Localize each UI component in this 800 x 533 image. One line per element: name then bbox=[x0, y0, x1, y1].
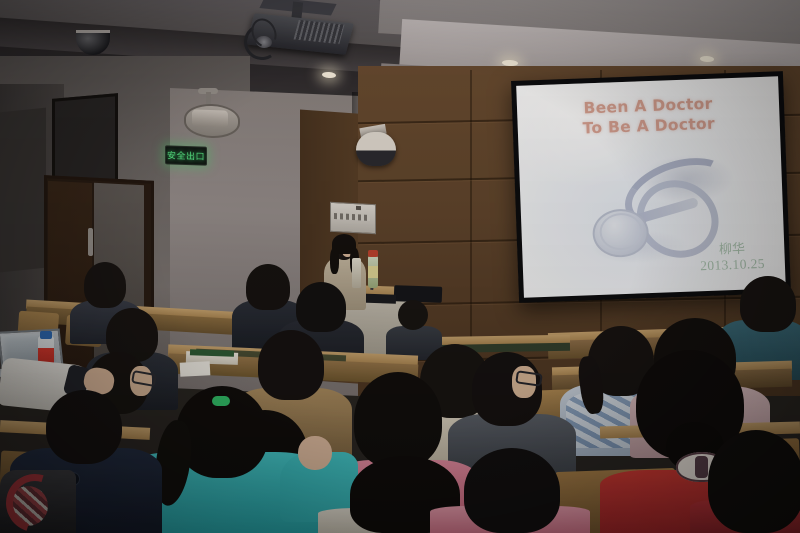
bottle-cap bbox=[40, 331, 52, 339]
student-head bbox=[464, 448, 560, 533]
speaker-grille bbox=[192, 109, 228, 127]
student-head bbox=[398, 300, 428, 330]
student-head bbox=[354, 372, 442, 468]
slide-footer: 柳华 2013.10.25 bbox=[699, 240, 765, 275]
lecture-hall-photo: 安全出口 Been A Doc bbox=[0, 0, 800, 533]
bottle-label bbox=[368, 266, 378, 278]
bottle-cap bbox=[368, 250, 378, 257]
hair-bow-center bbox=[695, 456, 708, 478]
slide-date: 2013.10.25 bbox=[700, 256, 765, 275]
papers bbox=[180, 361, 211, 377]
slide-surface: Been A Doctor To Be A Doctor 柳华 2013.10.… bbox=[516, 76, 786, 297]
panel-indicator-icon bbox=[356, 206, 361, 210]
wall-left-recess bbox=[0, 108, 46, 273]
door-handle[interactable] bbox=[88, 228, 93, 256]
bottle-podium bbox=[352, 258, 361, 288]
student-head bbox=[246, 264, 290, 310]
student-head bbox=[740, 276, 796, 332]
slide-title: Been A Doctor To Be A Doctor bbox=[517, 92, 780, 141]
exit-sign-label: 安全出口 bbox=[167, 148, 205, 162]
dome-camera-wall-icon bbox=[356, 132, 396, 166]
presenter-hair bbox=[330, 248, 339, 274]
projection-screen: Been A Doctor To Be A Doctor 柳华 2013.10.… bbox=[511, 71, 791, 303]
student-head bbox=[258, 330, 324, 400]
student-head bbox=[46, 390, 122, 464]
hair-tie bbox=[212, 396, 230, 406]
exit-sign: 安全出口 bbox=[165, 145, 207, 165]
student-head bbox=[84, 262, 126, 308]
student-head bbox=[296, 282, 346, 332]
student-head bbox=[708, 430, 800, 533]
student-hand bbox=[298, 436, 332, 470]
